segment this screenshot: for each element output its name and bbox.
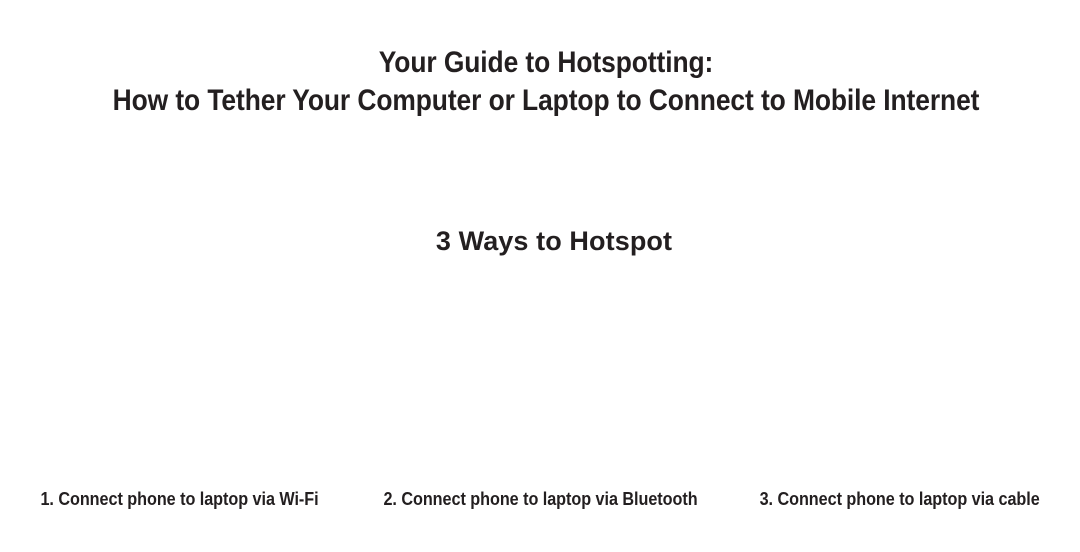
illustration-band	[0, 276, 1080, 476]
infographic-page: Your Guide to Hotspotting: How to Tether…	[0, 0, 1080, 552]
page-title-line-1: Your Guide to Hotspotting:	[66, 44, 1027, 82]
illustration-slot-wifi	[0, 276, 360, 476]
method-item-2: 2. Connect phone to laptop via Bluetooth	[360, 487, 720, 511]
illustration-slot-bluetooth	[360, 276, 720, 476]
captions-row: 1. Connect phone to laptop via Wi-Fi 2. …	[0, 487, 1080, 511]
section-heading: 3 Ways to Hotspot	[0, 224, 1080, 258]
method-caption-3: 3. Connect phone to laptop via cable	[760, 487, 1040, 511]
illustration-slot-cable	[720, 276, 1080, 476]
method-caption-1: 1. Connect phone to laptop via Wi-Fi	[41, 487, 319, 511]
method-caption-2: 2. Connect phone to laptop via Bluetooth	[383, 487, 697, 511]
page-title-line-2: How to Tether Your Computer or Laptop to…	[66, 82, 1027, 120]
method-item-1: 1. Connect phone to laptop via Wi-Fi	[0, 487, 360, 511]
page-title: Your Guide to Hotspotting: How to Tether…	[0, 44, 1080, 120]
method-item-3: 3. Connect phone to laptop via cable	[720, 487, 1080, 511]
